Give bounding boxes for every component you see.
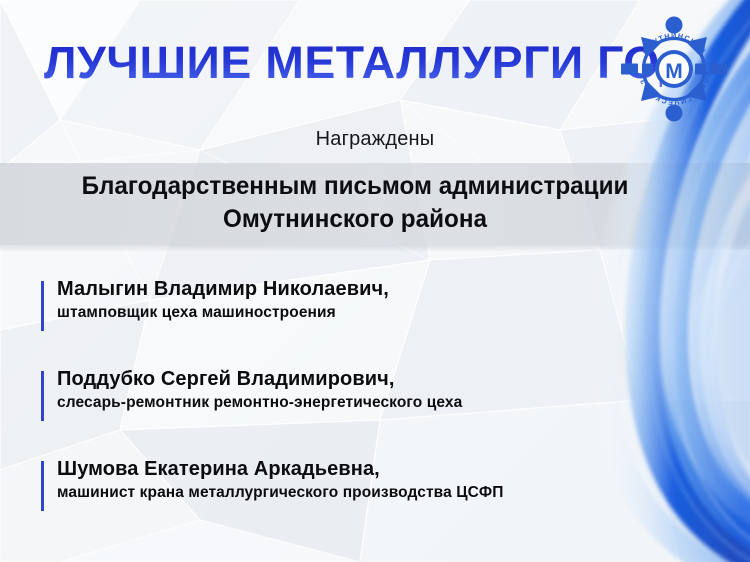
recipient-name: Поддубко Сергей Владимирович, <box>57 366 701 392</box>
list-item: Поддубко Сергей Владимирович, слесарь-ре… <box>41 366 701 418</box>
recipient-role: слесарь-ремонтник ремонтно-энергетическо… <box>57 392 701 414</box>
list-item: Малыгин Владимир Николаевич, штамповщик … <box>41 276 701 328</box>
award-title-line-1: Благодарственным письмом администрации <box>11 170 700 203</box>
award-title-line-2: Омутнинского района <box>11 203 700 236</box>
accent-bar <box>41 461 44 511</box>
list-item: Шумова Екатерина Аркадьевна, машинист кр… <box>41 456 701 508</box>
svg-text:М: М <box>665 60 683 83</box>
recipient-role: штамповщик цеха машиностроения <box>57 302 701 324</box>
slide-root: ЛУЧШИЕ МЕТАЛЛУРГИ ГОДА <box>0 0 750 562</box>
accent-bar <box>41 281 44 331</box>
award-title: Благодарственным письмом администрации О… <box>11 170 700 236</box>
plant-logo: М ОМУТНИНСКИЙ МЕТАЛЛУРГИЧЕСКИЙ ЗАВОД <box>621 16 727 122</box>
recipient-role: машинист крана металлургического произво… <box>57 482 701 504</box>
awarded-label: Награждены <box>0 128 750 151</box>
page-title: ЛУЧШИЕ МЕТАЛЛУРГИ ГОДА <box>44 33 662 91</box>
recipients-list: Малыгин Владимир Николаевич, штамповщик … <box>41 276 701 508</box>
recipient-name: Шумова Екатерина Аркадьевна, <box>57 456 701 482</box>
recipient-name: Малыгин Владимир Николаевич, <box>57 276 701 302</box>
accent-bar <box>41 371 44 421</box>
